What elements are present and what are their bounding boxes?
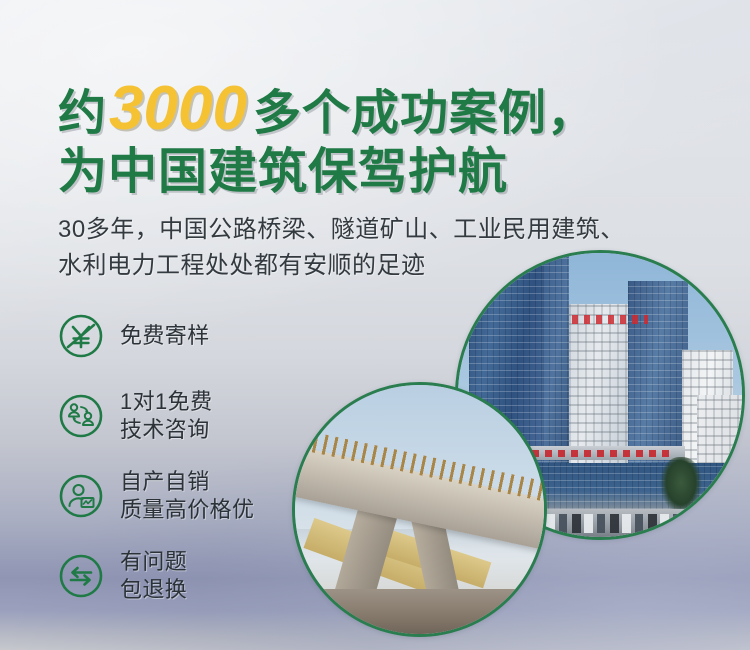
one-on-one-consult-icon	[58, 393, 104, 439]
feature-label: 免费寄样	[120, 322, 210, 350]
feature-item-free-sample[interactable]: 免费寄样	[58, 296, 358, 376]
promo-banner: 约3000多个成功案例， 为中国建筑保驾护航 30多年，中国公路桥梁、隧道矿山、…	[0, 0, 750, 650]
person-chart-icon	[58, 473, 104, 519]
no-yen-free-icon	[58, 313, 104, 359]
headline-line-1: 约3000多个成功案例，	[58, 78, 718, 140]
feature-label: 自产自销 质量高价格优	[120, 468, 254, 524]
headline-line-2: 为中国建筑保驾护航	[58, 146, 718, 199]
headline-block: 约3000多个成功案例， 为中国建筑保驾护航	[58, 78, 718, 199]
subcopy-line-1: 30多年，中国公路桥梁、隧道矿山、工业民用建筑、	[58, 212, 728, 248]
bridge-photo	[292, 382, 547, 637]
headline-number: 3000	[107, 74, 253, 143]
headline-suffix: 多个成功案例，	[253, 87, 596, 140]
headline-prefix: 约	[58, 87, 107, 140]
feature-label: 有问题 包退换	[120, 548, 187, 604]
feature-label: 1对1免费 技术咨询	[120, 388, 212, 444]
exchange-arrows-icon	[58, 553, 104, 599]
